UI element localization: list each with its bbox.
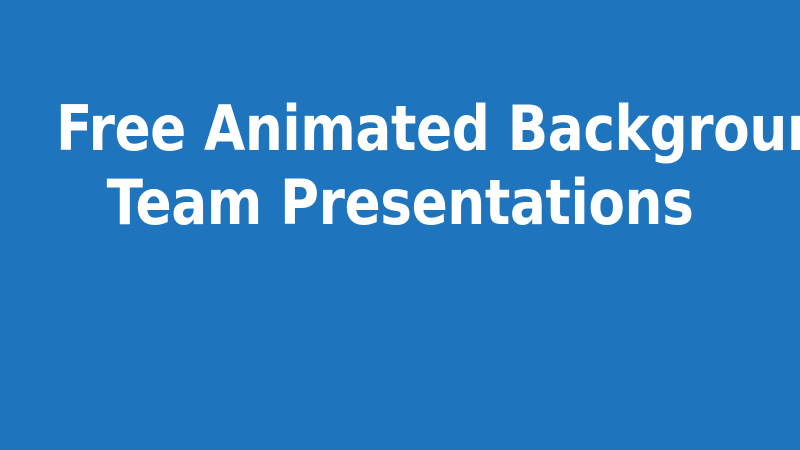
title-line-2: Team Presentations	[56, 166, 744, 240]
slide-canvas: Free Animated Backgrounds for Team Prese…	[0, 0, 800, 450]
title-block: Free Animated Backgrounds for Team Prese…	[0, 92, 800, 240]
title-line-1: Free Animated Backgrounds for	[56, 92, 744, 166]
